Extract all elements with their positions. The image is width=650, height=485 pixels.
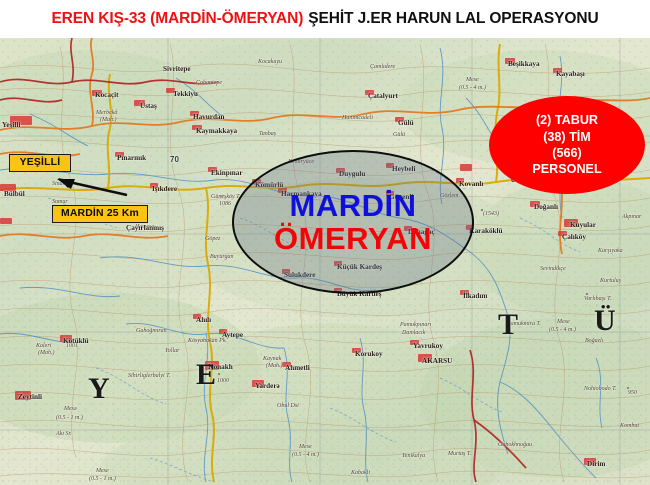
map-screenshot: EREN KIŞ-33 (MARDİN-ÖMERYAN) ŞEHİT J.ER … [0,0,650,485]
topographic-map[interactable]: Y E T Ü KocaçitÇobantepeSivritepeTekkiyu… [0,38,650,485]
callout-yesilli[interactable]: YEŞİLLİ [9,154,71,172]
force-count: (566) [552,145,581,161]
title-red-part: EREN KIŞ-33 (MARDİN-ÖMERYAN) [51,10,303,28]
force-battalions: (2) TABUR [536,112,598,128]
direction-arrow-icon [55,176,129,202]
page-title: EREN KIŞ-33 (MARDİN-ÖMERYAN) ŞEHİT J.ER … [0,0,650,38]
force-personnel: PERSONEL [532,161,601,177]
title-black-part: ŞEHİT J.ER HARUN LAL OPERASYONU [308,10,598,28]
force-teams: (38) TİM [543,129,591,145]
force-strength-callout[interactable]: (2) TABUR (38) TİM (566) PERSONEL [489,96,645,194]
callout-mardin-distance[interactable]: MARDİN 25 Km [52,205,148,223]
operation-area-ellipse[interactable] [232,150,474,294]
